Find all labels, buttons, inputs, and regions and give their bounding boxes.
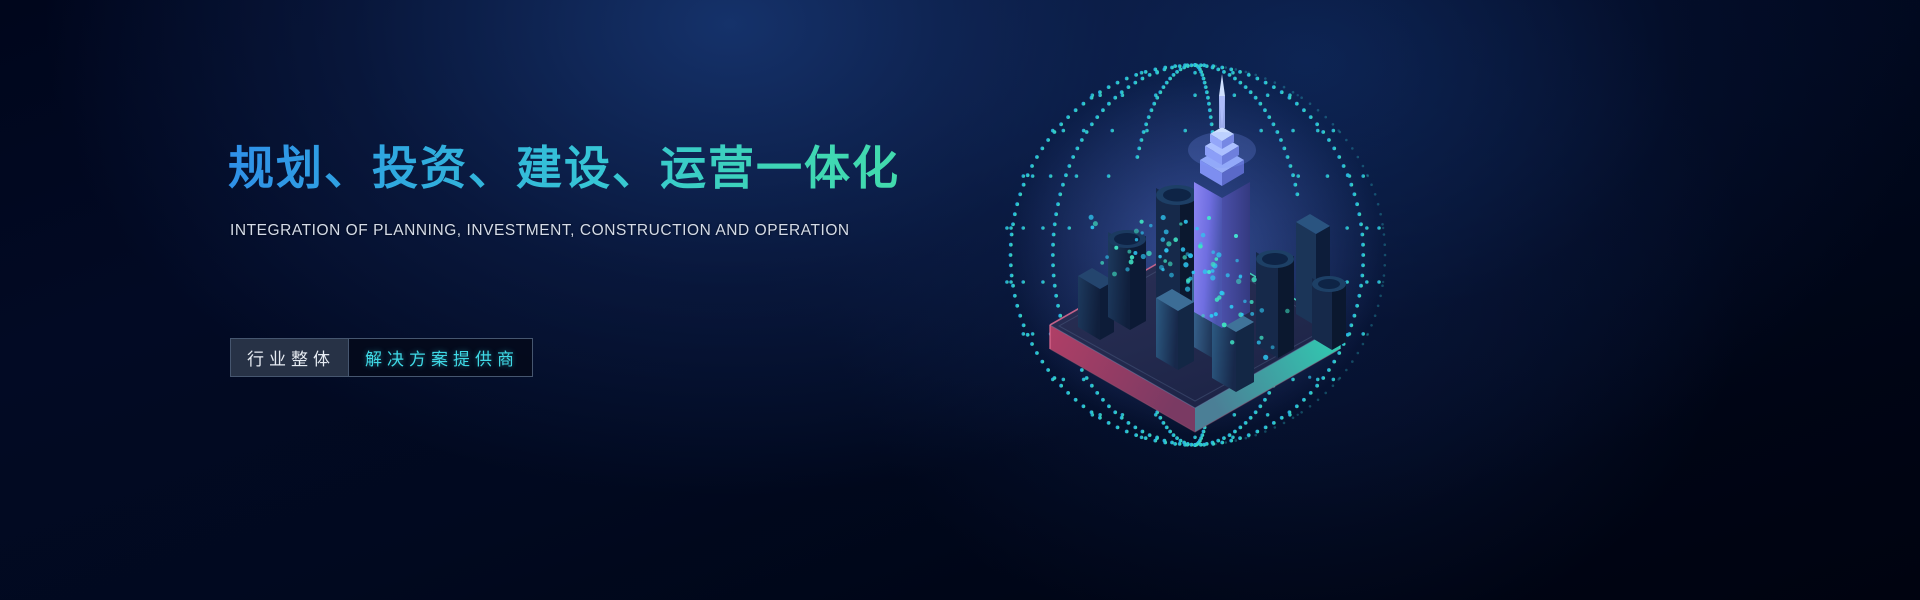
tagline-badge-left-label: 行业整体 [231,339,348,376]
tower-right-tube [1256,250,1294,358]
hero-banner: 规划、投资、建设、运营一体化 INTEGRATION OF PLANNING, … [0,0,1920,600]
page-title: 规划、投资、建设、运营一体化 [228,140,988,198]
tower-front-left [1156,289,1194,370]
tower-left-tube [1108,230,1146,330]
tagline-badge-right-label: 解决方案提供商 [348,339,532,376]
tagline-badge: 行业整体 解决方案提供商 [230,338,533,377]
hero-text-block: 规划、投资、建设、运营一体化 INTEGRATION OF PLANNING, … [228,140,988,240]
smart-city-globe-illustration [960,40,1440,470]
tower-right-far-tube [1312,276,1346,350]
page-subtitle: INTEGRATION OF PLANNING, INVESTMENT, CON… [230,222,988,240]
smart-city-globe-svg [960,40,1440,470]
